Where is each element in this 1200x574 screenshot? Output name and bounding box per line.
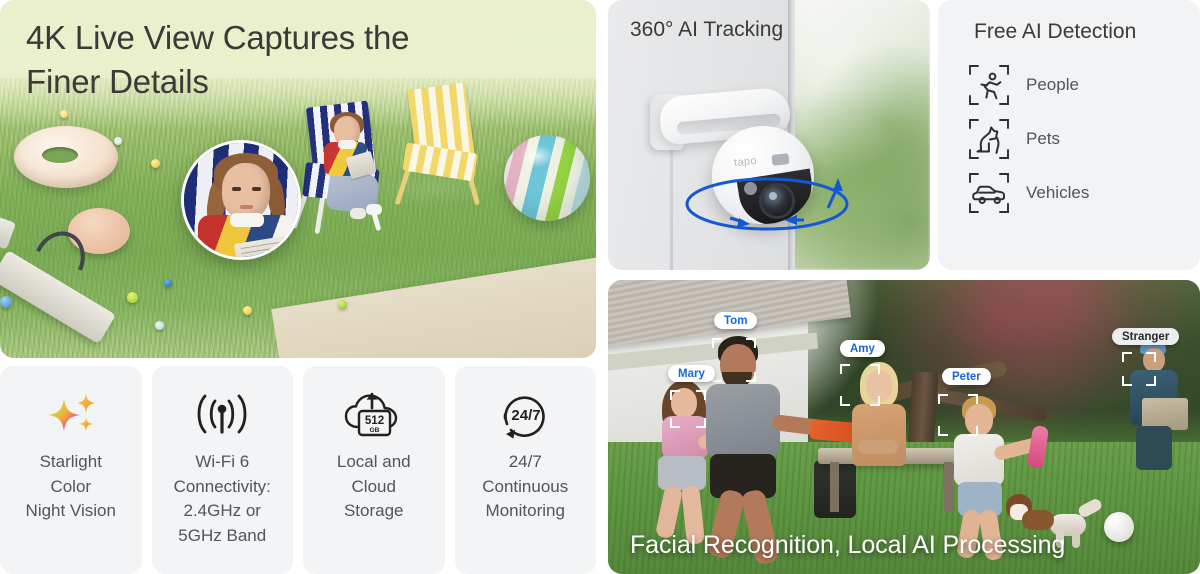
feature-cards: Starlight Color Night Vision Wi-Fi 6 Con… <box>0 366 596 574</box>
continuous-loop-icon: 24/7 <box>497 390 553 440</box>
table-leg <box>830 462 839 512</box>
detection-item-vehicles: Vehicles <box>968 166 1200 220</box>
hero-headline: 4K Live View Captures the Finer Details <box>26 16 409 104</box>
feature-card-monitoring: 24/7 24/7 Continuous Monitoring <box>455 366 597 574</box>
product-infographic: 4K Live View Captures the Finer Details … <box>0 0 1200 574</box>
card-icon-wrap: 24/7 <box>497 388 553 442</box>
detection-item-label: Pets <box>1026 129 1060 149</box>
lawn-ball <box>0 296 12 308</box>
feature-card-starlight: Starlight Color Night Vision <box>0 366 142 574</box>
car-icon <box>968 172 1010 214</box>
girl-reading <box>316 116 378 226</box>
hero-panel: 4K Live View Captures the Finer Details <box>0 0 596 358</box>
yellow-striped-deck-chair <box>404 86 478 202</box>
face-label-tom: Tom <box>714 312 757 329</box>
lawn-ball <box>164 279 172 287</box>
face-frame-stranger <box>1122 352 1156 386</box>
face-frame-tom <box>712 338 756 382</box>
dog-icon <box>968 118 1010 160</box>
wifi-antenna-icon <box>191 392 253 438</box>
sdcard-capacity: 512 <box>365 414 384 427</box>
monitoring-duration: 24/7 <box>512 407 541 424</box>
zoom-magnifier-circle <box>181 140 301 260</box>
lawn-ball <box>127 292 138 303</box>
cloud-sdcard-icon: 512 GB <box>342 391 406 439</box>
lawn-ball <box>338 300 347 309</box>
lawn-ball <box>243 306 252 315</box>
face-frame-mary <box>670 390 706 428</box>
card-icon-wrap <box>43 388 99 442</box>
feature-card-storage: 512 GB Local and Cloud Storage <box>303 366 445 574</box>
tracking-panel: tapo 360° AI Tracking <box>608 0 930 270</box>
feature-card-wifi: Wi-Fi 6 Connectivity: 2.4GHz or 5GHz Ban… <box>152 366 294 574</box>
detection-item-label: People <box>1026 75 1079 95</box>
rotation-arrows-icon <box>678 168 856 236</box>
lawn-ball <box>1104 512 1134 542</box>
detection-title: Free AI Detection <box>974 20 1200 44</box>
lawn-ball <box>114 137 122 145</box>
camera-badge <box>771 153 789 166</box>
sdcard-capacity-unit: GB <box>369 427 379 434</box>
detection-list: People Pets <box>968 58 1200 220</box>
person-running-icon <box>968 64 1010 106</box>
facial-recognition-panel: Tom Mary Amy Peter Stranger Facial Recog… <box>608 280 1200 574</box>
card-label: Starlight Color Night Vision <box>18 450 124 524</box>
detection-item-label: Vehicles <box>1026 183 1089 203</box>
face-frame-amy <box>840 364 880 406</box>
beach-ball <box>504 135 590 221</box>
lawn-ball <box>155 321 164 330</box>
detection-item-people: People <box>968 58 1200 112</box>
camera-cable <box>670 148 673 270</box>
card-icon-wrap <box>191 388 253 442</box>
face-label-amy: Amy <box>840 340 885 357</box>
pool-float-hole <box>42 147 78 163</box>
sparkle-star-icon <box>43 391 99 439</box>
detection-panel: Free AI Detection People <box>938 0 1200 270</box>
card-label: Wi-Fi 6 Connectivity: 2.4GHz or 5GHz Ban… <box>166 450 279 549</box>
card-label: 24/7 Continuous Monitoring <box>474 450 576 524</box>
card-label: Local and Cloud Storage <box>329 450 419 524</box>
face-label-stranger: Stranger <box>1112 328 1179 345</box>
card-icon-wrap: 512 GB <box>342 388 406 442</box>
face-frame-peter <box>938 394 978 436</box>
lawn-ball <box>151 159 160 168</box>
face-label-peter: Peter <box>942 368 991 385</box>
face-label-mary: Mary <box>668 365 715 382</box>
tracking-title: 360° AI Tracking <box>630 18 783 42</box>
faces-caption: Facial Recognition, Local AI Processing <box>630 531 1065 560</box>
lawn-ball <box>60 110 68 118</box>
detection-item-pets: Pets <box>968 112 1200 166</box>
